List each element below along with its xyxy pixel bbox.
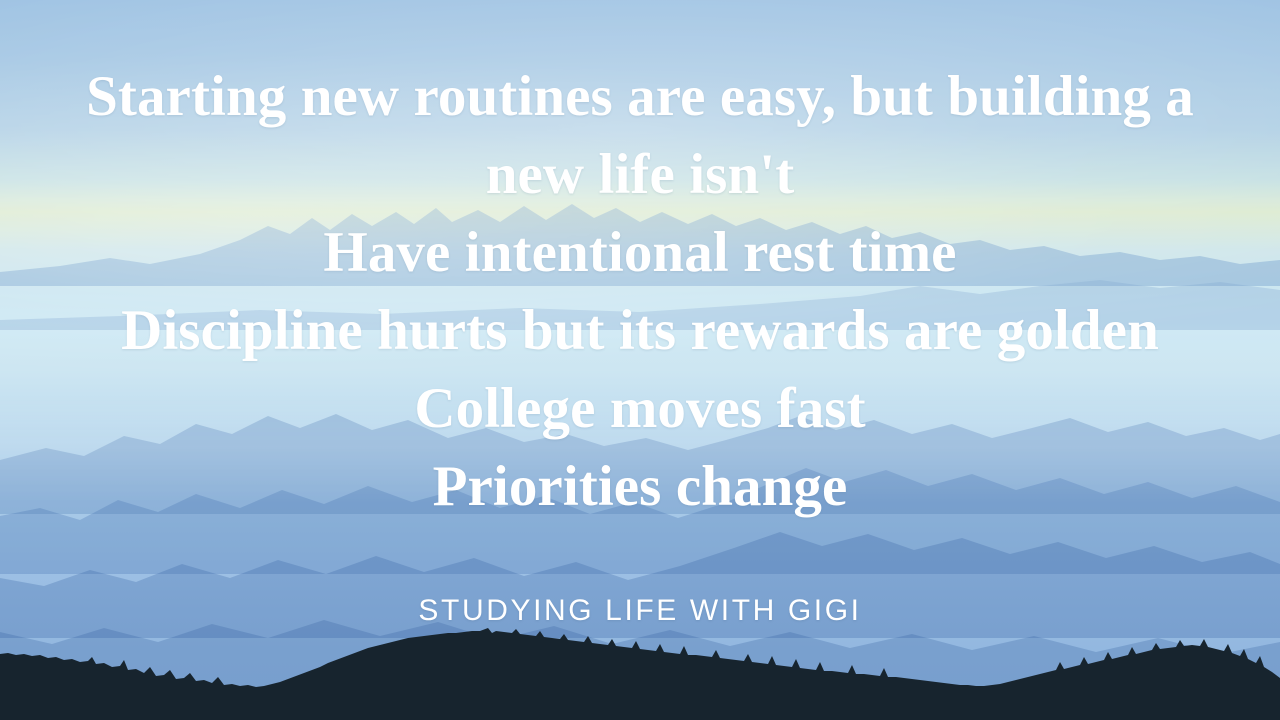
quote-text-block: Starting new routines are easy, but buil… bbox=[0, 0, 1280, 526]
quote-line-3: Discipline hurts but its rewards are gol… bbox=[0, 292, 1280, 370]
quote-line-1: Starting new routines are easy, but buil… bbox=[0, 58, 1280, 214]
foreground-forest-silhouette bbox=[0, 626, 1280, 720]
quote-graphic-canvas: Starting new routines are easy, but buil… bbox=[0, 0, 1280, 720]
quote-line-5: Priorities change bbox=[0, 448, 1280, 526]
quote-line-2: Have intentional rest time bbox=[0, 214, 1280, 292]
quote-line-4: College moves fast bbox=[0, 370, 1280, 448]
footer-credit: STUDYING LIFE WITH GIGI bbox=[0, 592, 1280, 630]
